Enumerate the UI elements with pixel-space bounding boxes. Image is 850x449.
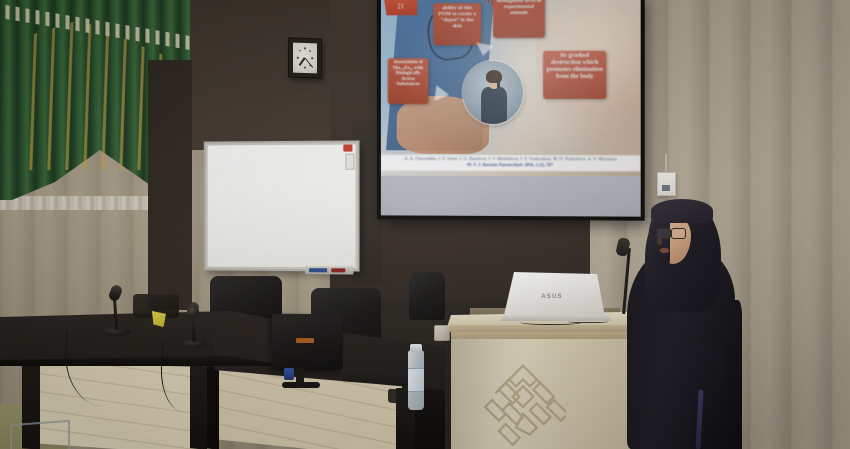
slide-callout-hemoglobin: The increase of the hemoglobin level in … bbox=[493, 0, 545, 38]
eyeglasses-bridge bbox=[668, 231, 672, 232]
desk-floor-rail bbox=[10, 420, 70, 449]
whiteboard-magnet-red bbox=[343, 145, 352, 152]
whiteboard-surface bbox=[208, 145, 356, 268]
slide-callout-depot: ability of this POM to create a “depot” … bbox=[433, 3, 481, 45]
speaker-nose bbox=[657, 238, 662, 245]
wall-clock bbox=[288, 37, 322, 78]
slide-arrow-right-icon bbox=[434, 85, 450, 103]
presentation-slide: Application 21 ability of this POM to cr… bbox=[381, 0, 641, 176]
curtain-side-shadow bbox=[148, 60, 192, 310]
slide-photo-person-body bbox=[481, 87, 507, 124]
slide-photo-phone bbox=[497, 79, 501, 88]
speaker-mouth bbox=[660, 248, 669, 253]
slide-number-badge: 21 bbox=[384, 0, 418, 16]
speaker-hijab-crown bbox=[651, 199, 713, 223]
slide-citation-source: M. V. J. Russian Nanotechnol. 2016, 2 (5… bbox=[381, 162, 641, 169]
projection-screen: Application 21 ability of this POM to cr… bbox=[377, 0, 645, 221]
laptop-cable-2 bbox=[568, 318, 608, 323]
wall-sensor-icon bbox=[657, 172, 676, 196]
projection-screen-blank-area bbox=[381, 176, 641, 217]
clock-face bbox=[293, 43, 317, 74]
whiteboard-note bbox=[345, 154, 354, 170]
slide-circular-photo bbox=[463, 61, 523, 124]
monitor-brand-logo-icon bbox=[296, 338, 314, 343]
sensor-conduit bbox=[665, 154, 667, 174]
podium-trim-band bbox=[451, 331, 640, 339]
eyeglasses-right-lens-icon bbox=[671, 228, 686, 239]
laptop-brand-logo: ASUS bbox=[540, 294, 564, 301]
endless-knot-emblem-icon bbox=[480, 358, 566, 449]
whiteboard bbox=[204, 140, 360, 271]
monitor-foot bbox=[282, 382, 320, 388]
slide-callout-destruction: Its gradual destruction which promotes e… bbox=[543, 51, 606, 99]
wall-power-outlet[interactable] bbox=[434, 325, 450, 341]
slide-citation: A. A. Ostroushko, I. F. Gette, I. G. Dan… bbox=[381, 155, 641, 171]
projection-screen-surface: Application 21 ability of this POM to cr… bbox=[381, 0, 641, 217]
water-bottle-label bbox=[408, 368, 424, 392]
sheer-curtain bbox=[0, 196, 150, 210]
whiteboard-marker-red bbox=[331, 268, 345, 272]
whiteboard-marker-blue bbox=[309, 268, 327, 272]
blue-usb-device bbox=[284, 368, 294, 380]
desk-panel-gap bbox=[205, 365, 219, 449]
microphone-head-3 bbox=[187, 306, 199, 318]
office-chair-back-3 bbox=[409, 272, 445, 320]
sensor-display bbox=[662, 185, 670, 191]
slide-callout-association: Association of Mo₁₇₅Fe₃₀ with Biological… bbox=[388, 58, 429, 104]
water-bottle-cap bbox=[410, 344, 422, 352]
lecture-hall-photo: Application 21 ability of this POM to cr… bbox=[0, 0, 850, 449]
